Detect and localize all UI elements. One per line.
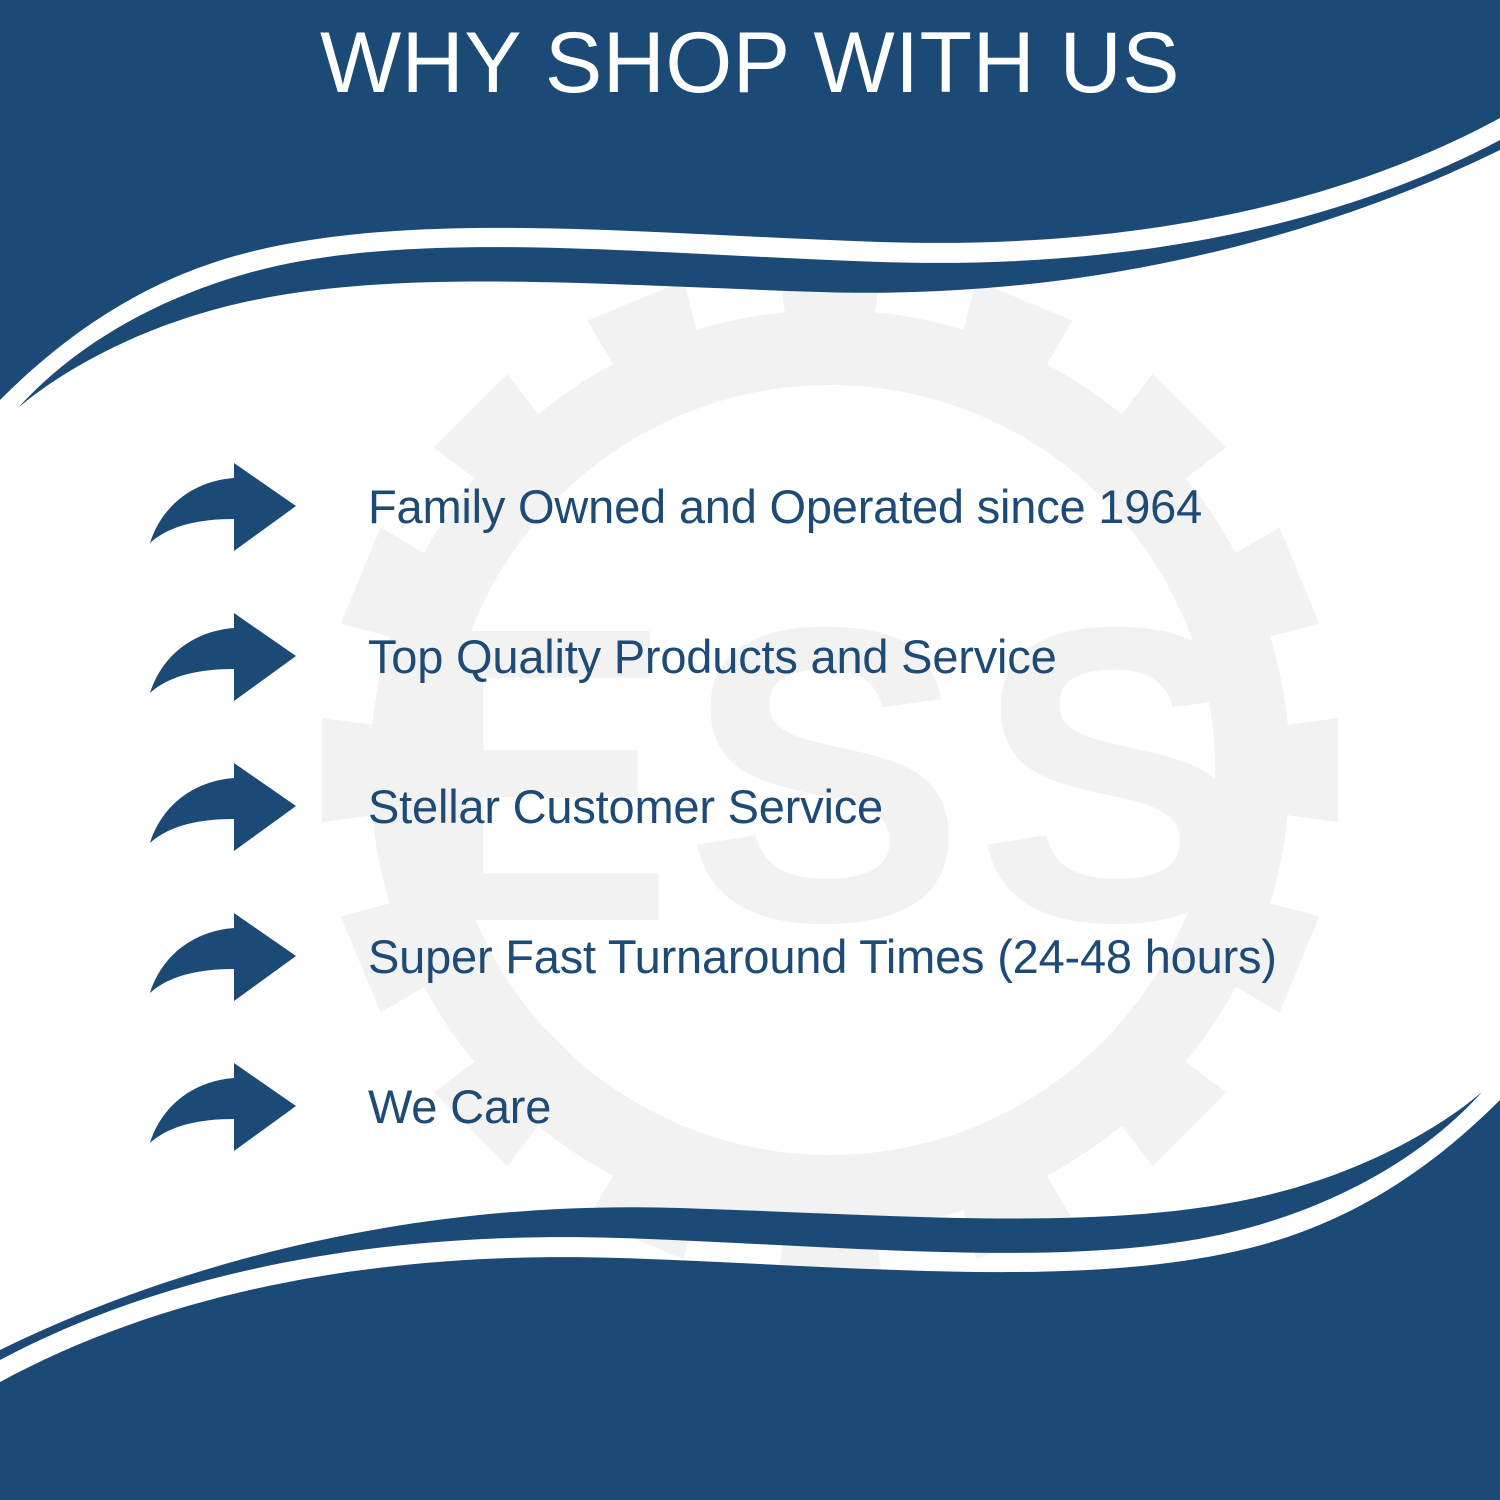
list-item-label: Super Fast Turnaround Times (24-48 hours…: [368, 931, 1277, 983]
list-item-label: We Care: [368, 1081, 551, 1133]
curved-arrow-right-icon: [148, 461, 298, 553]
list-item: Stellar Customer Service: [148, 732, 1448, 882]
list-item: Super Fast Turnaround Times (24-48 hours…: [148, 882, 1448, 1032]
curved-arrow-right-icon: [148, 611, 298, 703]
curved-arrow-right-icon: [148, 761, 298, 853]
list-item: We Care: [148, 1032, 1448, 1182]
benefits-list: Family Owned and Operated since 1964 Top…: [148, 432, 1448, 1182]
list-item-label: Top Quality Products and Service: [368, 631, 1057, 683]
list-item: Family Owned and Operated since 1964: [148, 432, 1448, 582]
poster-canvas: ESS WHY SHOP WITH US Family Owned and O: [0, 0, 1500, 1500]
page-title: WHY SHOP WITH US: [0, 18, 1500, 108]
curved-arrow-right-icon: [148, 911, 298, 1003]
page-title-text: WHY SHOP WITH US: [320, 18, 1180, 108]
curved-arrow-right-icon: [148, 1061, 298, 1153]
list-item: Top Quality Products and Service: [148, 582, 1448, 732]
list-item-label: Stellar Customer Service: [368, 781, 883, 833]
swoosh-top: [18, 140, 1500, 408]
list-item-label: Family Owned and Operated since 1964: [368, 481, 1202, 533]
